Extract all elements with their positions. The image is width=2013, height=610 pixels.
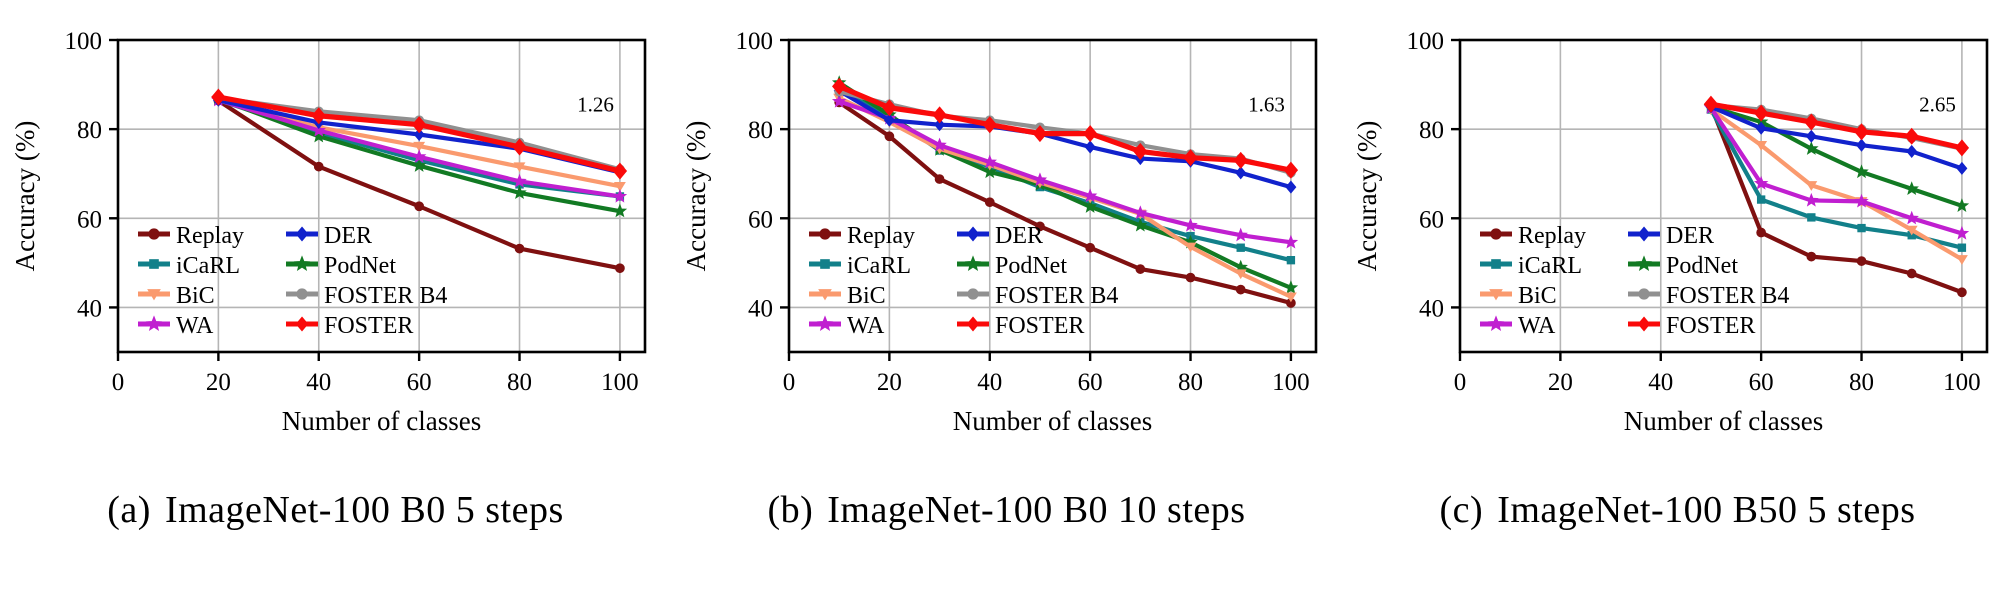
legend-label: Replay xyxy=(176,223,244,249)
data-point xyxy=(1086,243,1095,252)
legend-label: Replay xyxy=(847,223,915,249)
x-tick-label: 20 xyxy=(206,369,231,396)
y-axis-label: Accuracy (%) xyxy=(1352,121,1382,272)
y-tick-label: 80 xyxy=(77,117,102,144)
x-axis-label: Number of classes xyxy=(1624,406,1823,436)
data-point xyxy=(616,264,625,273)
line-chart-c[interactable]: 406080100020406080100Number of classesAc… xyxy=(1342,0,2013,470)
x-tick-label: 20 xyxy=(1548,369,1573,396)
x-tick-label: 20 xyxy=(877,369,902,396)
legend-point xyxy=(1491,229,1501,239)
caption-a-tag: (a) xyxy=(107,488,151,532)
line-chart-a[interactable]: 406080100020406080100Number of classesAc… xyxy=(0,0,671,470)
legend-point xyxy=(968,289,978,299)
caption-c: (c) ImageNet-100 B50 5 steps xyxy=(1342,470,2013,610)
y-tick-label: 100 xyxy=(65,28,103,55)
data-point xyxy=(935,175,944,184)
legend-label: FOSTER xyxy=(1666,313,1755,339)
x-axis-label: Number of classes xyxy=(282,406,481,436)
chart-panel-b: 406080100020406080100Number of classesAc… xyxy=(671,0,1342,470)
legend-label: FOSTER B4 xyxy=(995,283,1118,309)
x-tick-label: 40 xyxy=(1648,369,1673,396)
y-tick-label: 60 xyxy=(748,206,773,233)
data-point xyxy=(1757,196,1764,203)
y-axis-label: Accuracy (%) xyxy=(10,121,40,272)
data-point xyxy=(515,244,524,253)
legend-point xyxy=(150,260,159,269)
y-tick-label: 40 xyxy=(748,295,773,322)
y-tick-label: 40 xyxy=(77,295,102,322)
legend-point xyxy=(821,260,830,269)
legend-label: DER xyxy=(324,223,372,249)
y-tick-label: 80 xyxy=(748,117,773,144)
legend-label: PodNet xyxy=(995,253,1067,279)
legend-label: BiC xyxy=(847,283,886,309)
y-tick-label: 60 xyxy=(77,206,102,233)
x-tick-label: 100 xyxy=(1272,369,1310,396)
legend-label: BiC xyxy=(1518,283,1557,309)
legend-point xyxy=(297,289,307,299)
caption-b: (b) ImageNet-100 B0 10 steps xyxy=(671,470,1342,610)
legend-label: PodNet xyxy=(1666,253,1738,279)
x-tick-label: 40 xyxy=(977,369,1002,396)
x-tick-label: 0 xyxy=(1454,369,1467,396)
x-tick-label: 0 xyxy=(783,369,796,396)
caption-b-tag: (b) xyxy=(767,488,813,532)
data-point xyxy=(1757,228,1766,237)
x-tick-label: 60 xyxy=(1749,369,1774,396)
data-point xyxy=(1958,244,1965,251)
data-point xyxy=(1907,269,1916,278)
legend-label: iCaRL xyxy=(847,253,911,279)
legend-label: WA xyxy=(176,313,214,339)
data-point xyxy=(314,162,323,171)
y-tick-label: 100 xyxy=(736,28,774,55)
caption-b-text: ImageNet-100 B0 10 steps xyxy=(827,488,1245,532)
data-point xyxy=(1808,214,1815,221)
data-point xyxy=(1287,257,1294,264)
data-point xyxy=(885,132,894,141)
caption-a-text: ImageNet-100 B0 5 steps xyxy=(165,488,564,532)
data-point xyxy=(1807,252,1816,261)
x-tick-label: 60 xyxy=(1078,369,1103,396)
data-point xyxy=(1857,257,1866,266)
chart-panel-c: 406080100020406080100Number of classesAc… xyxy=(1342,0,2013,470)
line-chart-b[interactable]: 406080100020406080100Number of classesAc… xyxy=(671,0,1342,470)
x-tick-label: 80 xyxy=(1849,369,1874,396)
gap-annotation: 2.65 xyxy=(1919,92,1956,116)
legend-label: WA xyxy=(1518,313,1556,339)
gap-annotation: 1.63 xyxy=(1248,92,1285,116)
legend-label: DER xyxy=(995,223,1043,249)
data-point xyxy=(1858,224,1865,231)
y-axis-label: Accuracy (%) xyxy=(681,121,711,272)
data-point xyxy=(985,198,994,207)
panel-row: 406080100020406080100Number of classesAc… xyxy=(0,0,2013,470)
figure-root: 406080100020406080100Number of classesAc… xyxy=(0,0,2013,610)
x-axis-label: Number of classes xyxy=(953,406,1152,436)
x-tick-label: 80 xyxy=(1178,369,1203,396)
caption-row: (a) ImageNet-100 B0 5 steps (b) ImageNet… xyxy=(0,470,2013,610)
legend-point xyxy=(1492,260,1501,269)
data-point xyxy=(1136,265,1145,274)
legend-point xyxy=(1639,289,1649,299)
y-tick-label: 80 xyxy=(1419,117,1444,144)
x-tick-label: 100 xyxy=(1943,369,1981,396)
gap-annotation: 1.26 xyxy=(577,92,614,116)
y-tick-label: 40 xyxy=(1419,295,1444,322)
legend-label: PodNet xyxy=(324,253,396,279)
legend-label: FOSTER B4 xyxy=(1666,283,1789,309)
legend-label: DER xyxy=(1666,223,1714,249)
legend-label: BiC xyxy=(176,283,215,309)
y-tick-label: 60 xyxy=(1419,206,1444,233)
legend-label: FOSTER B4 xyxy=(324,283,447,309)
legend-label: iCaRL xyxy=(176,253,240,279)
legend-label: iCaRL xyxy=(1518,253,1582,279)
data-point xyxy=(1958,288,1967,297)
data-point xyxy=(1237,244,1244,251)
x-tick-label: 60 xyxy=(407,369,432,396)
y-tick-label: 100 xyxy=(1407,28,1445,55)
data-point xyxy=(415,202,424,211)
legend-label: WA xyxy=(847,313,885,339)
data-point xyxy=(1236,285,1245,294)
legend-point xyxy=(820,229,830,239)
caption-c-tag: (c) xyxy=(1440,488,1484,532)
x-tick-label: 100 xyxy=(601,369,639,396)
legend-point xyxy=(149,229,159,239)
legend-label: FOSTER xyxy=(324,313,413,339)
legend-label: Replay xyxy=(1518,223,1586,249)
x-tick-label: 80 xyxy=(507,369,532,396)
data-point xyxy=(1186,273,1195,282)
x-tick-label: 0 xyxy=(112,369,125,396)
caption-c-text: ImageNet-100 B50 5 steps xyxy=(1497,488,1915,532)
x-tick-label: 40 xyxy=(306,369,331,396)
chart-panel-a: 406080100020406080100Number of classesAc… xyxy=(0,0,671,470)
caption-a: (a) ImageNet-100 B0 5 steps xyxy=(0,470,671,610)
legend-label: FOSTER xyxy=(995,313,1084,339)
